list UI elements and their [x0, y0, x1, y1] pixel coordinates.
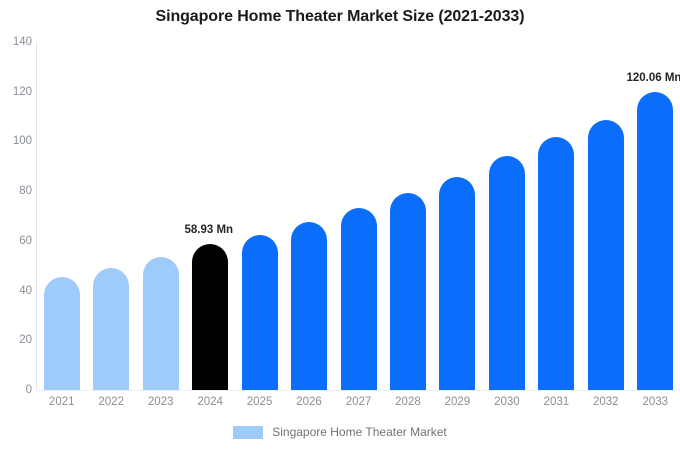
chart-legend: Singapore Home Theater Market	[0, 425, 680, 439]
bar-fill-2021	[44, 277, 80, 390]
y-axis-tick: 140	[4, 36, 32, 48]
bar-fill-2023	[143, 257, 179, 390]
bar-fill-2030	[489, 156, 525, 390]
bar-2024[interactable]	[192, 42, 228, 390]
bar-2022[interactable]	[93, 42, 129, 390]
y-axis-tick: 40	[4, 285, 32, 297]
y-axis-tick: 120	[4, 86, 32, 98]
bar-2029[interactable]	[439, 42, 475, 390]
bar-fill-2032	[588, 120, 624, 390]
bar-fill-2028	[390, 193, 426, 390]
legend-label: Singapore Home Theater Market	[272, 425, 447, 439]
bar-fill-2022	[93, 268, 129, 390]
bar-chart: Singapore Home Theater Market Size (2021…	[0, 0, 680, 450]
bar-fill-2027	[341, 208, 377, 390]
y-axis-tick: 80	[4, 185, 32, 197]
bar-fill-2025	[242, 235, 278, 390]
data-label-2033: 120.06 Mn	[626, 72, 680, 84]
bar-fill-2031	[538, 137, 574, 390]
bar-fill-2029	[439, 177, 475, 390]
bar-fill-2026	[291, 222, 327, 390]
bar-2030[interactable]	[489, 42, 525, 390]
x-axis-tick-2033: 2033	[625, 396, 680, 408]
x-axis-line	[36, 390, 680, 391]
y-axis-tick: 60	[4, 235, 32, 247]
bar-2027[interactable]	[341, 42, 377, 390]
bar-2033[interactable]	[637, 42, 673, 390]
chart-title: Singapore Home Theater Market Size (2021…	[0, 8, 680, 26]
legend-swatch-singapore-home-theater-market	[233, 426, 263, 439]
bar-2031[interactable]	[538, 42, 574, 390]
bar-2026[interactable]	[291, 42, 327, 390]
bar-fill-2024	[192, 244, 228, 390]
y-axis-tick: 20	[4, 334, 32, 346]
bar-2032[interactable]	[588, 42, 624, 390]
y-axis-tick: 0	[4, 384, 32, 396]
bar-fill-2033	[637, 92, 673, 390]
bars-layer	[37, 42, 680, 390]
bar-2028[interactable]	[390, 42, 426, 390]
y-axis-tick: 100	[4, 135, 32, 147]
y-axis-tick-labels: 020406080100120140	[0, 0, 32, 450]
bar-2021[interactable]	[44, 42, 80, 390]
bar-2025[interactable]	[242, 42, 278, 390]
bar-2023[interactable]	[143, 42, 179, 390]
data-label-2024: 58.93 Mn	[185, 224, 234, 236]
